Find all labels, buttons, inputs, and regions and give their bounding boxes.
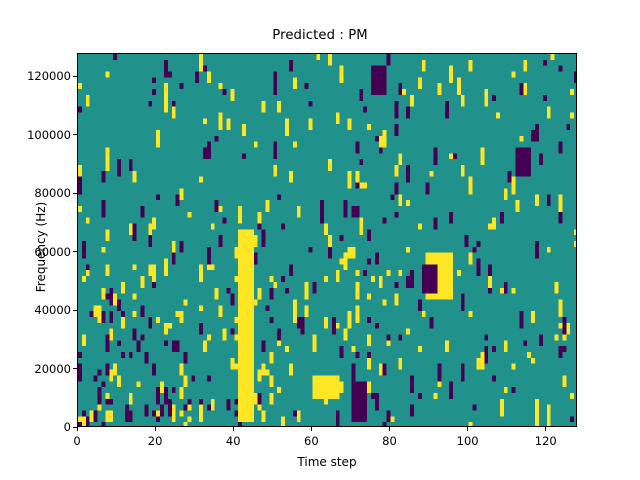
x-tick-label: 80: [382, 434, 397, 448]
x-tick-mark: [155, 427, 156, 431]
x-tick-mark: [311, 427, 312, 431]
x-axis-label: Time step: [77, 455, 577, 469]
heatmap-image: [78, 54, 577, 427]
x-tick-mark: [467, 427, 468, 431]
x-tick-mark: [389, 427, 390, 431]
y-axis-label: Frequency (Hz): [34, 127, 48, 367]
heatmap-plot-area: [77, 53, 577, 427]
y-tick-label: 0: [11, 420, 71, 434]
matplotlib-figure: Predicted : PM 0200004000060000800001000…: [0, 0, 640, 480]
x-tick-label: 20: [148, 434, 163, 448]
x-tick-label: 100: [457, 434, 479, 448]
x-tick-mark: [77, 427, 78, 431]
y-tick-mark: [73, 134, 77, 135]
y-tick-mark: [73, 76, 77, 77]
y-tick-label: 120000: [11, 69, 71, 83]
y-tick-mark: [73, 310, 77, 311]
x-tick-mark: [233, 427, 234, 431]
page-title: Predicted : PM: [0, 28, 640, 43]
y-tick-mark: [73, 251, 77, 252]
x-tick-label: 60: [304, 434, 319, 448]
y-tick-mark: [73, 368, 77, 369]
x-tick-label: 0: [73, 434, 80, 448]
x-tick-label: 120: [535, 434, 557, 448]
x-tick-label: 40: [226, 434, 241, 448]
x-tick-mark: [545, 427, 546, 431]
y-tick-mark: [73, 193, 77, 194]
